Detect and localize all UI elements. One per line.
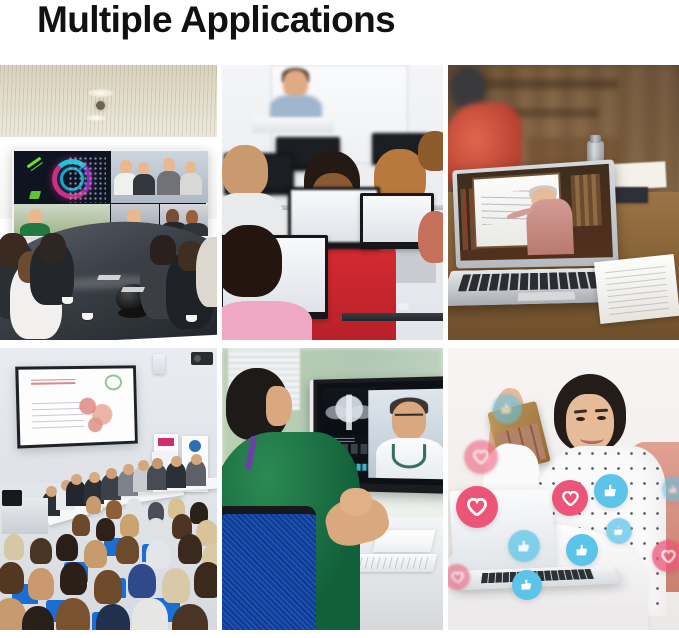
computer-mouse [398,303,409,310]
audience-member [120,514,139,537]
student-body-front [222,301,312,340]
instructor-head [283,70,308,98]
photo-remote-learning-laptop: Remote Learning on Laptop [448,65,679,340]
audience-member [146,540,170,569]
gallery-item-corporate-boardroom: Corporate Boardroom Video Wall [0,65,222,348]
banner-logo-mark [189,440,201,452]
heart-reaction-icon [552,480,588,516]
audience-member [178,534,202,564]
photo-social-live-streaming: Social Live Streaming [448,348,679,630]
like-reaction-icon [606,518,632,544]
gallery-item-lecture-hall-conference: Lecture Hall Conference [0,348,222,630]
office-chair [222,506,316,630]
doctor-video-feed [368,389,443,480]
audience-member [28,568,54,600]
like-reaction-icon [566,534,598,566]
library-shelf [468,79,618,89]
desk-keyboard [347,554,437,572]
teacher-body [525,198,574,256]
audience-member [162,568,190,603]
banner-header-bar [158,438,174,446]
like-reaction-icon [512,570,542,600]
streamer-eye-left [576,417,585,421]
streamer-smile [580,433,604,444]
audience-member [172,604,208,630]
like-reaction-icon [662,476,679,502]
photo-lecture-hall-conference: Lecture Hall Conference [0,348,217,630]
ceiling-projector [191,352,213,365]
dashboard-data-grid [68,156,106,203]
page-title: Multiple Applications [37,0,395,42]
desk-edge-front [342,313,443,321]
panelist-head [171,456,182,467]
audience-member [128,564,156,598]
instructor-desk [252,117,334,133]
doctor-glasses [395,414,423,421]
audience-member [116,536,139,564]
audience-member [56,534,78,561]
panelist-head [191,454,202,465]
audience-member [94,570,122,604]
heart-reaction-icon [464,440,498,474]
audience-member [4,534,24,560]
audience-member [30,538,52,564]
audience-member [72,514,90,536]
panelist-head [71,474,82,485]
ceiling-light [88,89,114,97]
laptop-lid [452,159,619,268]
photo-corporate-boardroom: Corporate Boardroom Video Wall [0,65,217,340]
student-head [418,131,443,171]
photo-telemedicine-consult: Telemedicine Consultation [222,348,443,630]
audience-member [194,562,217,598]
gallery-item-social-live-streaming: Social Live Streaming [448,348,679,630]
laptop-screen [457,164,613,261]
poster-page: Multiple Applications [0,0,679,638]
audience-member [96,604,130,630]
student-head [418,211,443,263]
ceiling-light-secondary [86,115,106,121]
photo-computer-classroom: Computer Classroom [222,65,443,340]
streamer-eye-right [597,416,606,420]
remote-group-feed [111,151,208,203]
audience-member [106,500,122,519]
wall-loudspeaker [153,354,165,374]
like-reaction-icon [594,474,628,508]
dashboard-panel [14,151,110,203]
audience-member [84,540,107,568]
slide-logo-mark [105,374,123,390]
stethoscope-icon [392,444,426,469]
audience-member [0,562,24,594]
heart-reaction-icon [456,486,498,528]
audience-member [86,496,101,514]
slide-heading [31,379,75,385]
panelist-head [106,468,117,479]
gallery-item-remote-learning-laptop: Remote Learning on Laptop [448,65,679,348]
audience-member [60,562,87,595]
gallery-item-caption: Computer Classroom [222,65,223,66]
application-gallery-grid: Corporate Boardroom Video Wall [0,65,679,638]
heart-reaction-icon [652,540,679,572]
audience-member [146,518,166,542]
slide-graphic [74,390,120,435]
panelist-head [89,472,100,483]
like-reaction-icon [492,394,522,424]
ceiling-tiles [0,65,217,142]
bookshelf-right [571,174,602,226]
dashboard-green-block [29,191,41,199]
clinician-hand [340,488,372,516]
like-reaction-icon [508,530,540,562]
clinician-face [266,386,292,426]
gallery-item-telemedicine-consult: Telemedicine Consultation [222,348,448,630]
panelist-head [152,458,163,469]
projection-screen [15,365,138,448]
audience-member [96,518,115,541]
student-head-front [222,225,282,297]
dashboard-green-marker [27,157,42,169]
podium-monitor [2,490,22,506]
student-head [222,145,268,197]
open-notebook [594,254,679,324]
gallery-item-computer-classroom: Computer Classroom [222,65,448,348]
audience-member [56,598,90,630]
laptop-trackpad [517,291,577,302]
ceiling-spot-icon [96,101,105,110]
audience-member [132,598,168,630]
